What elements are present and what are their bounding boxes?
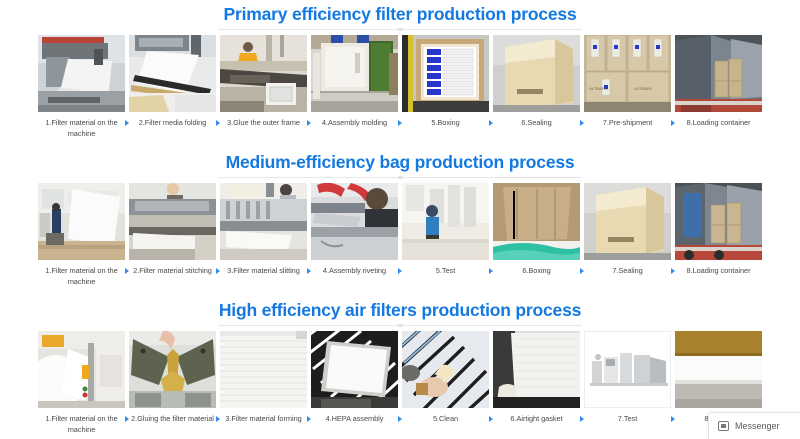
process-step[interactable] [38, 183, 125, 260]
step-caption: 6.Airtight gasket [493, 414, 580, 425]
process-step[interactable] [402, 183, 489, 260]
step-image-hepa-assembly[interactable] [311, 331, 398, 408]
step-caption: 1.Filter material on the machine [38, 414, 125, 435]
process-step[interactable] [220, 331, 307, 408]
step-image-boxing-kraft[interactable] [675, 331, 762, 408]
step-caption: 4.Assembly molding [311, 118, 398, 129]
step-caption: 7.Pre-shipment [584, 118, 671, 129]
step-image-filter-material-stitching[interactable] [129, 183, 216, 260]
step-image-filter-media-folding[interactable] [129, 35, 216, 112]
step-image-filter-material-slitting[interactable] [220, 183, 307, 260]
process-step[interactable] [311, 183, 398, 260]
step-image-assembly-riveting[interactable] [311, 183, 398, 260]
process-step[interactable] [402, 331, 489, 408]
process-step[interactable] [675, 331, 762, 408]
process-section-high: High efficiency air filters production p… [0, 296, 800, 435]
step-image-sealing-carton-ultrafil[interactable] [584, 183, 671, 260]
step-caption: 2.Filter material stitching [129, 266, 216, 277]
messenger-widget[interactable]: Messenger [708, 412, 800, 439]
process-step[interactable] [38, 331, 125, 408]
section-title: Primary efficiency filter production pro… [0, 0, 800, 25]
step-caption: 8.Loading container [675, 266, 762, 277]
process-step[interactable] [220, 183, 307, 260]
process-step[interactable] [129, 35, 216, 112]
step-caption: 5.Clean [402, 414, 489, 425]
step-image-boxing-carton-open[interactable] [402, 35, 489, 112]
step-caption: 5.Boxing [402, 118, 489, 129]
caption-row: 1.Filter material on the machine 2.Filte… [0, 118, 800, 139]
section-title: Medium-efficiency bag production process [0, 148, 800, 173]
step-image-assembly-molding[interactable] [311, 35, 398, 112]
process-step[interactable] [493, 183, 580, 260]
step-image-boxing-carton-interior[interactable] [493, 183, 580, 260]
step-caption: 6.Boxing [493, 266, 580, 277]
step-image-filter-material-on-machine[interactable] [38, 35, 125, 112]
process-step[interactable] [584, 183, 671, 260]
step-caption: 8.Loading container [675, 118, 762, 129]
step-caption: 2.Filter media folding [129, 118, 216, 129]
step-image-loading-container[interactable] [675, 35, 762, 112]
step-image-filter-roll-on-machine[interactable] [38, 331, 125, 408]
step-caption: 1.Filter material on the machine [38, 118, 125, 139]
step-caption: 2.Gluing the filter material [129, 414, 216, 425]
process-section-primary: Primary efficiency filter production pro… [0, 0, 800, 139]
thumbnail-strip [0, 183, 800, 260]
messenger-label: Messenger [735, 421, 780, 431]
step-caption: 4.HEPA assembly [311, 414, 398, 425]
step-image-pre-shipment-stacked-cartons[interactable]: ULTRAFIL ULTRAFIL [584, 35, 671, 112]
caption-row: 1.Filter material on the machine 2.Gluin… [0, 414, 800, 435]
process-step[interactable] [493, 331, 580, 408]
process-step[interactable] [129, 331, 216, 408]
title-divider [218, 177, 582, 178]
title-divider [218, 325, 582, 326]
process-step[interactable] [129, 183, 216, 260]
step-image-filter-material-forming[interactable] [220, 331, 307, 408]
step-caption: 5.Test [402, 266, 489, 277]
page-root: Primary efficiency filter production pro… [0, 0, 800, 439]
step-image-loading-container-forklift[interactable] [675, 183, 762, 260]
step-caption: 6.Sealing [493, 118, 580, 129]
step-image-filter-material-on-machine[interactable] [38, 183, 125, 260]
step-caption: 7.Sealing [584, 266, 671, 277]
step-caption: 3.Filter material forming [220, 414, 307, 425]
step-caption: 1.Filter material on the machine [38, 266, 125, 287]
step-image-test-equipment[interactable] [584, 331, 671, 408]
caption-row: 1.Filter material on the machine 2.Filte… [0, 266, 800, 287]
process-step[interactable] [493, 35, 580, 112]
step-image-clean-room-wipe[interactable] [402, 331, 489, 408]
step-image-sealing-carton-ultrafil[interactable] [493, 35, 580, 112]
messenger-icon [718, 421, 729, 431]
step-caption: 4.Assembly riveting [311, 266, 398, 277]
step-image-airtight-gasket[interactable] [493, 331, 580, 408]
process-step[interactable]: ULTRAFIL ULTRAFIL [584, 35, 671, 112]
process-step[interactable] [38, 35, 125, 112]
step-image-test-lab[interactable] [402, 183, 489, 260]
section-title: High efficiency air filters production p… [0, 296, 800, 321]
step-caption: 7.Test [584, 414, 671, 425]
process-step[interactable] [675, 35, 762, 112]
thumbnail-strip: ULTRAFIL ULTRAFIL [0, 35, 800, 112]
process-step[interactable] [311, 331, 398, 408]
process-step[interactable] [584, 331, 671, 408]
step-caption: 3.Glue the outer frame [220, 118, 307, 129]
svg-text:ULTRAFIL: ULTRAFIL [589, 86, 608, 91]
process-section-medium: Medium-efficiency bag production process [0, 148, 800, 287]
process-step[interactable] [220, 35, 307, 112]
svg-text:ULTRAFIL: ULTRAFIL [634, 86, 653, 91]
step-image-gluing-filter-material[interactable] [129, 331, 216, 408]
step-image-glue-outer-frame[interactable] [220, 35, 307, 112]
process-step[interactable] [675, 183, 762, 260]
step-caption: 3.Filter material slitting [220, 266, 307, 277]
title-divider [218, 29, 582, 30]
process-step[interactable] [311, 35, 398, 112]
process-step[interactable] [402, 35, 489, 112]
thumbnail-strip [0, 331, 800, 408]
